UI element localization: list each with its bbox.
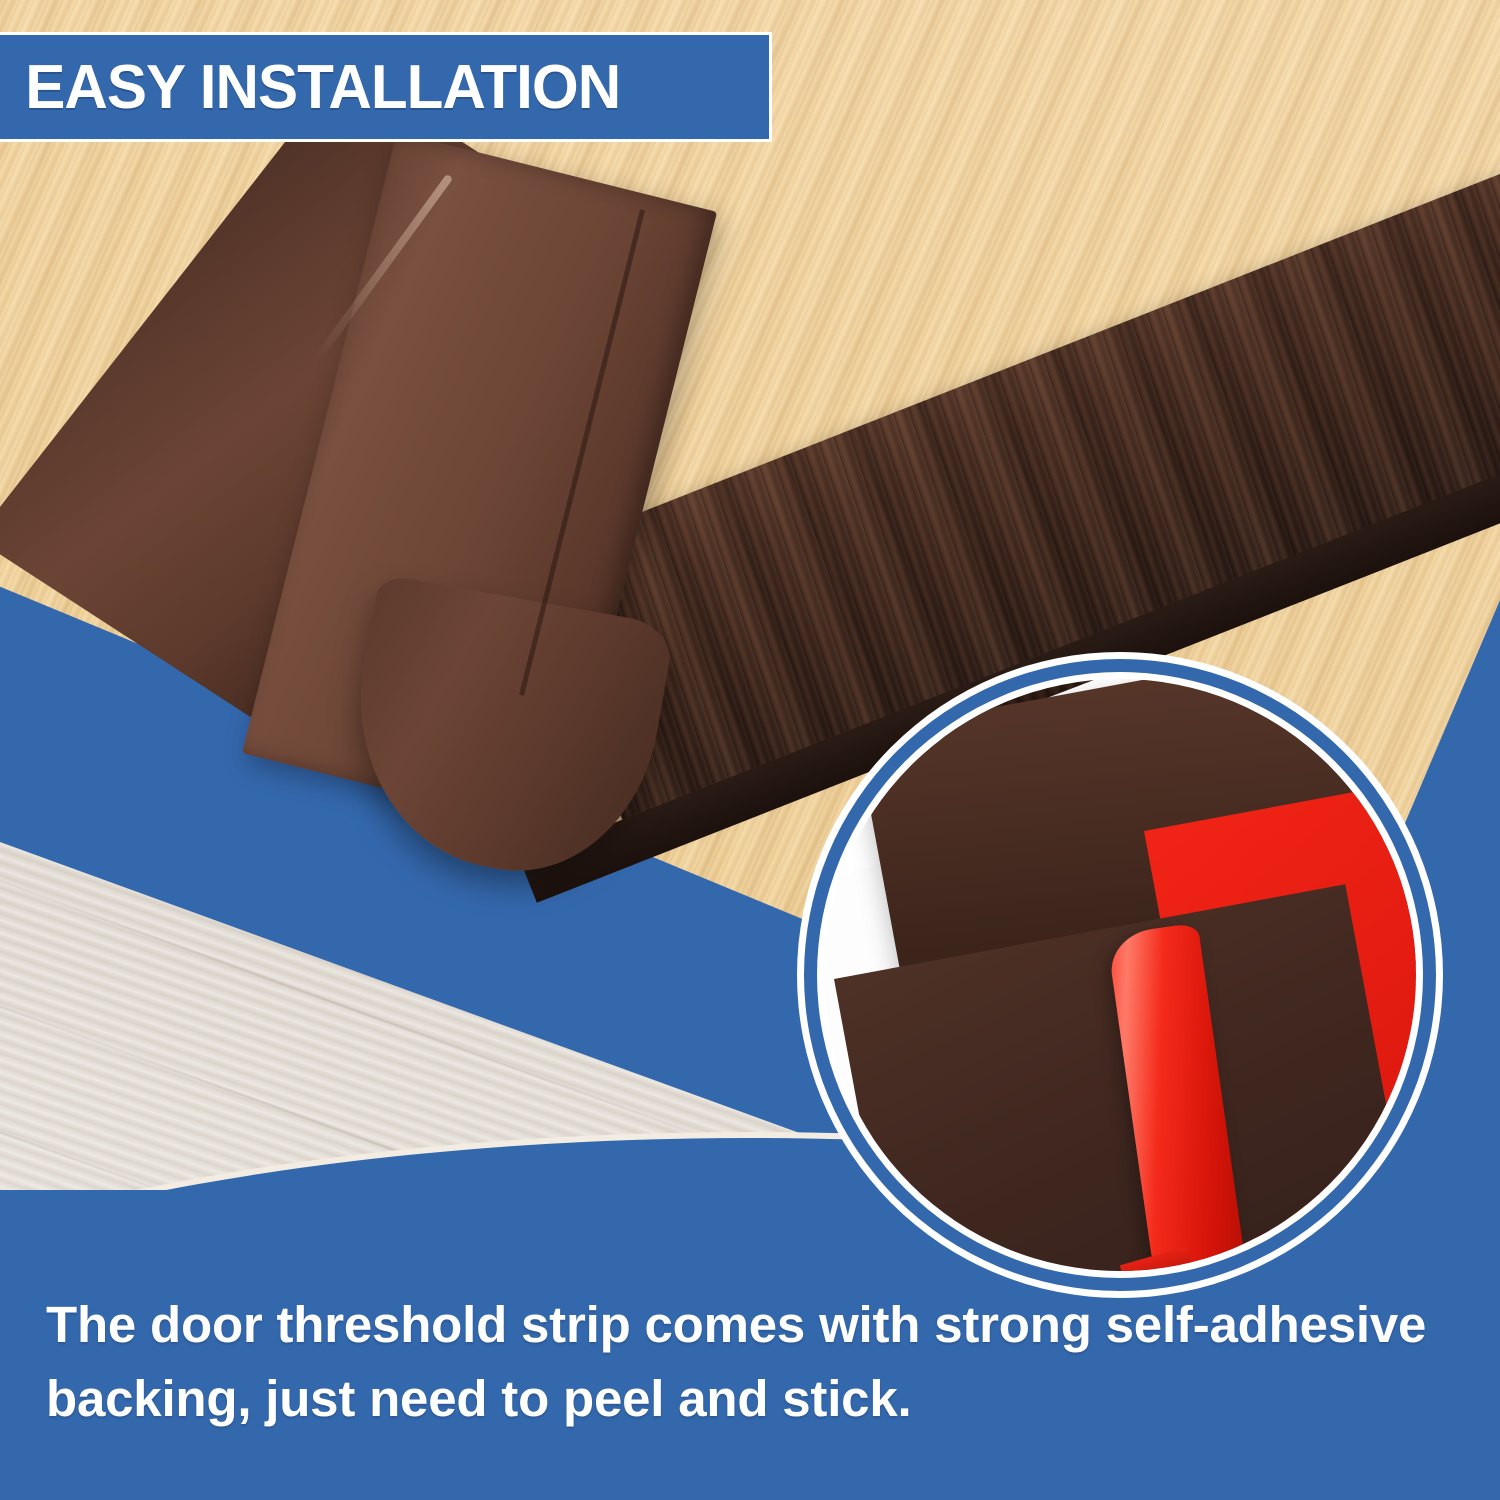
product-marketing-image: EASY INSTALLATION The door t xyxy=(0,0,1500,1500)
inset-blue-ring xyxy=(804,659,1436,1291)
detail-circle-inset xyxy=(797,652,1443,1298)
footer-caption-line-1: The door threshold strip comes with stro… xyxy=(0,1288,1500,1362)
banner-title: EASY INSTALLATION xyxy=(0,52,620,123)
footer-caption-line-2: backing, just need to peel and stick. xyxy=(0,1362,1500,1436)
header-banner: EASY INSTALLATION xyxy=(0,32,772,142)
inset-white-inner-ring xyxy=(817,672,1423,1278)
inset-photo xyxy=(824,679,1416,1271)
footer-caption: The door threshold strip comes with stro… xyxy=(0,1240,1500,1500)
